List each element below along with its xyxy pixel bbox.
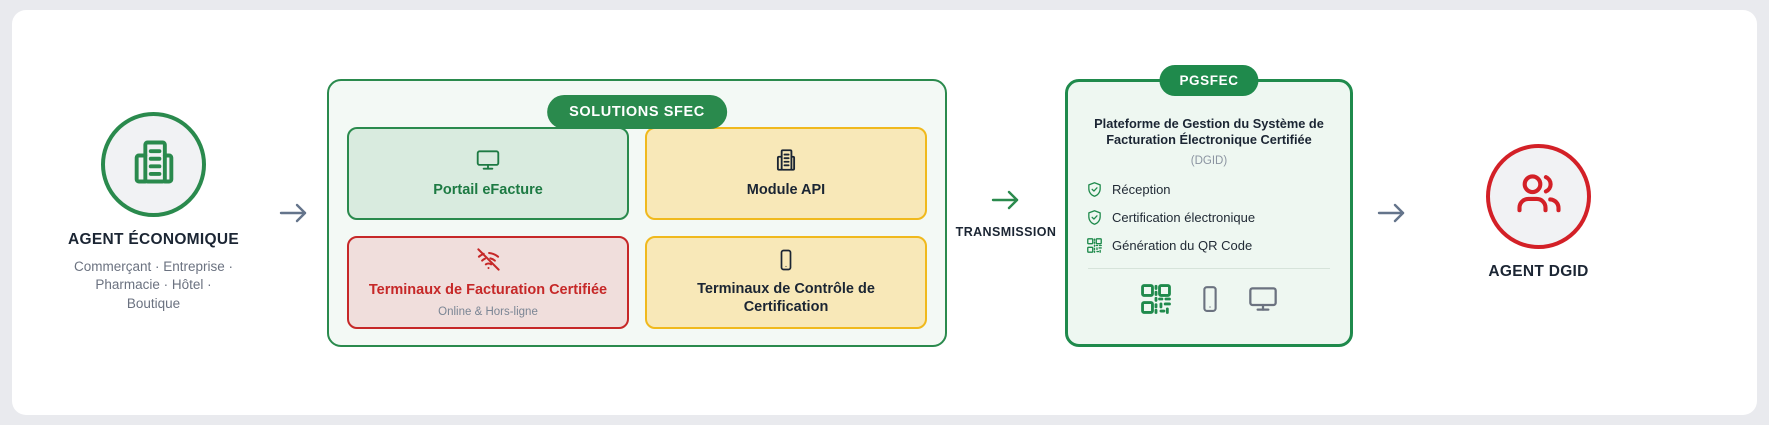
building-icon [128,136,180,193]
feature-label: Génération du QR Code [1112,238,1252,253]
smartphone-icon [774,248,798,272]
transmission-block: TRANSMISSION [947,187,1065,239]
pgsfec-divider [1088,268,1330,269]
pgsfec-subtitle: (DGID) [1086,155,1332,167]
tile-terminaux-controle[interactable]: Terminaux de Contrôle de Certification [645,236,927,329]
tile-label: Module API [747,182,825,199]
pgsfec-device-icons [1086,282,1332,316]
smartphone-icon [1195,284,1225,314]
diagram-card: AGENT ÉCONOMIQUE Commerçant · Entreprise… [12,10,1757,415]
pgsfec-feature-list: Réception Certification électronique [1086,181,1332,254]
tile-label: Portail eFacture [433,182,543,199]
tile-portail-efacture[interactable]: Portail eFacture [347,127,629,220]
pgsfec-title: Plateforme de Gestion du Système de Fact… [1086,116,1332,149]
right-agent-avatar [1486,144,1591,249]
left-agent-title: AGENT ÉCONOMIQUE [68,231,239,249]
left-agent-avatar [101,112,206,217]
sfec-panel: SOLUTIONS SFEC Portail eFacture [327,79,947,347]
tile-label: Terminaux de Facturation Certifiée [369,282,607,299]
left-agent-subtitle: Commerçant · Entreprise · Pharmacie · Hô… [69,258,239,313]
tile-module-api[interactable]: Module API [645,127,927,220]
pgsfec-badge: PGSFEC [1159,65,1258,96]
transmission-label: TRANSMISSION [956,225,1057,239]
feature-label: Certification électronique [1112,210,1255,225]
tile-sublabel: Online & Hors-ligne [438,306,538,318]
wifi-off-icon [475,246,502,273]
arrow-right-icon [277,200,311,226]
users-icon [1513,168,1565,225]
monitor-icon [475,147,501,173]
tile-terminaux-facturation[interactable]: Terminaux de Facturation Certifiée Onlin… [347,236,629,329]
qr-code-icon [1086,237,1103,254]
pgsfec-panel: PGSFEC Plateforme de Gestion du Système … [1065,79,1353,347]
diagram-root: AGENT ÉCONOMIQUE Commerçant · Entreprise… [0,0,1769,425]
feature-label: Réception [1112,182,1171,197]
shield-check-icon [1086,181,1103,198]
arrow-right-icon [1375,200,1409,226]
tile-label: Terminaux de Contrôle de Certification [655,281,917,316]
right-agent-block: AGENT DGID [1431,144,1646,281]
api-building-icon [773,147,799,173]
sfec-badge: SOLUTIONS SFEC [547,95,727,129]
qr-code-icon [1139,282,1173,316]
arrow-right-icon [989,187,1023,213]
monitor-icon [1247,283,1279,315]
left-agent-block: AGENT ÉCONOMIQUE Commerçant · Entreprise… [46,112,261,313]
shield-check-icon [1086,209,1103,226]
feature-reception: Réception [1086,181,1332,198]
feature-qrcode: Génération du QR Code [1086,237,1332,254]
feature-certification: Certification électronique [1086,209,1332,226]
sfec-tile-grid: Portail eFacture M [347,127,927,329]
right-agent-title: AGENT DGID [1488,263,1588,281]
